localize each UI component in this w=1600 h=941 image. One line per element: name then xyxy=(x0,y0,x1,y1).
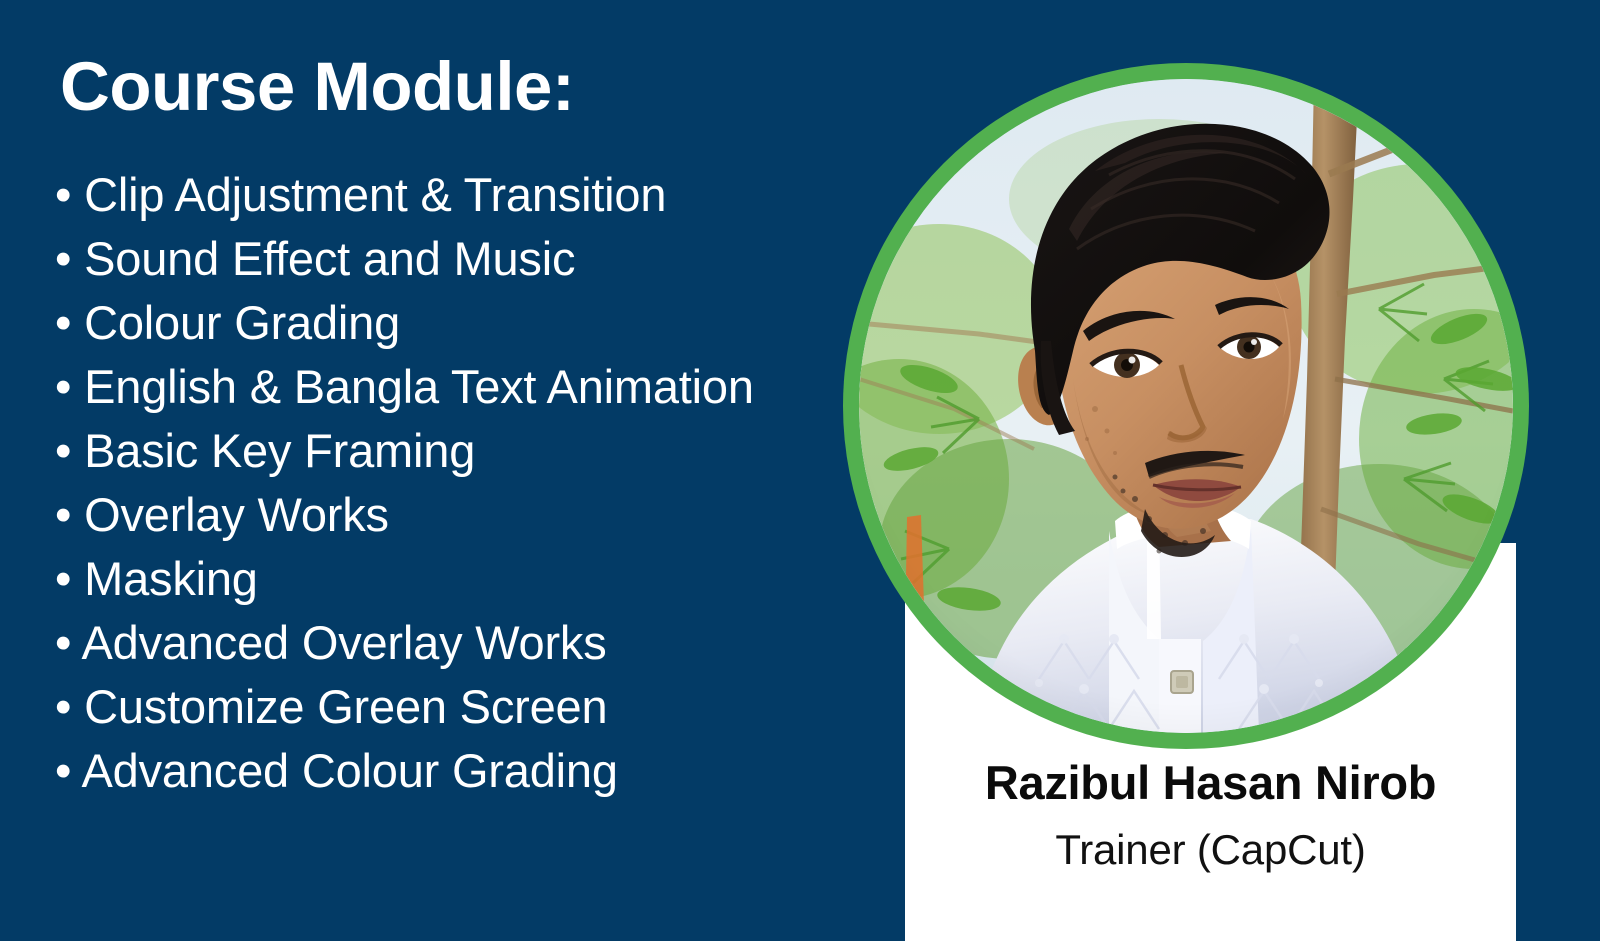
course-module-list: • Clip Adjustment & Transition • Sound E… xyxy=(55,163,815,803)
list-item: • Overlay Works xyxy=(55,483,815,547)
course-module-panel: Course Module: • Clip Adjustment & Trans… xyxy=(0,0,880,941)
bullet-icon: • xyxy=(55,424,71,477)
list-item: • Advanced Overlay Works xyxy=(55,611,815,675)
bullet-icon: • xyxy=(55,488,71,541)
list-item-label: English & Bangla Text Animation xyxy=(84,360,754,413)
list-item: • Colour Grading xyxy=(55,291,815,355)
list-item-label: Clip Adjustment & Transition xyxy=(84,168,666,221)
bullet-icon: • xyxy=(55,232,71,285)
list-item-label: Masking xyxy=(84,552,258,605)
list-item-label: Advanced Colour Grading xyxy=(82,744,618,797)
course-module-slide: Course Module: • Clip Adjustment & Trans… xyxy=(0,0,1600,941)
list-item: • Basic Key Framing xyxy=(55,419,815,483)
list-item-label: Colour Grading xyxy=(84,296,400,349)
list-item-label: Sound Effect and Music xyxy=(84,232,575,285)
bullet-icon: • xyxy=(55,552,71,605)
trainer-name: Razibul Hasan Nirob xyxy=(905,755,1516,810)
list-item: • Sound Effect and Music xyxy=(55,227,815,291)
list-item-label: Customize Green Screen xyxy=(84,680,607,733)
bullet-icon: • xyxy=(55,168,71,221)
list-item: • Masking xyxy=(55,547,815,611)
bullet-icon: • xyxy=(55,680,71,733)
avatar xyxy=(859,79,1513,733)
list-item: • Customize Green Screen xyxy=(55,675,815,739)
bullet-icon: • xyxy=(55,744,71,797)
avatar-ring xyxy=(843,63,1529,749)
page-title: Course Module: xyxy=(60,52,574,121)
bullet-icon: • xyxy=(55,616,71,669)
bullet-icon: • xyxy=(55,360,71,413)
bullet-icon: • xyxy=(55,296,71,349)
list-item: • Advanced Colour Grading xyxy=(55,739,815,803)
list-item-label: Overlay Works xyxy=(84,488,389,541)
list-item-label: Advanced Overlay Works xyxy=(82,616,607,669)
list-item: • English & Bangla Text Animation xyxy=(55,355,815,419)
list-item: • Clip Adjustment & Transition xyxy=(55,163,815,227)
trainer-profile-panel: Razibul Hasan Nirob Trainer (CapCut) xyxy=(880,0,1600,941)
trainer-role: Trainer (CapCut) xyxy=(905,826,1516,874)
list-item-label: Basic Key Framing xyxy=(84,424,475,477)
